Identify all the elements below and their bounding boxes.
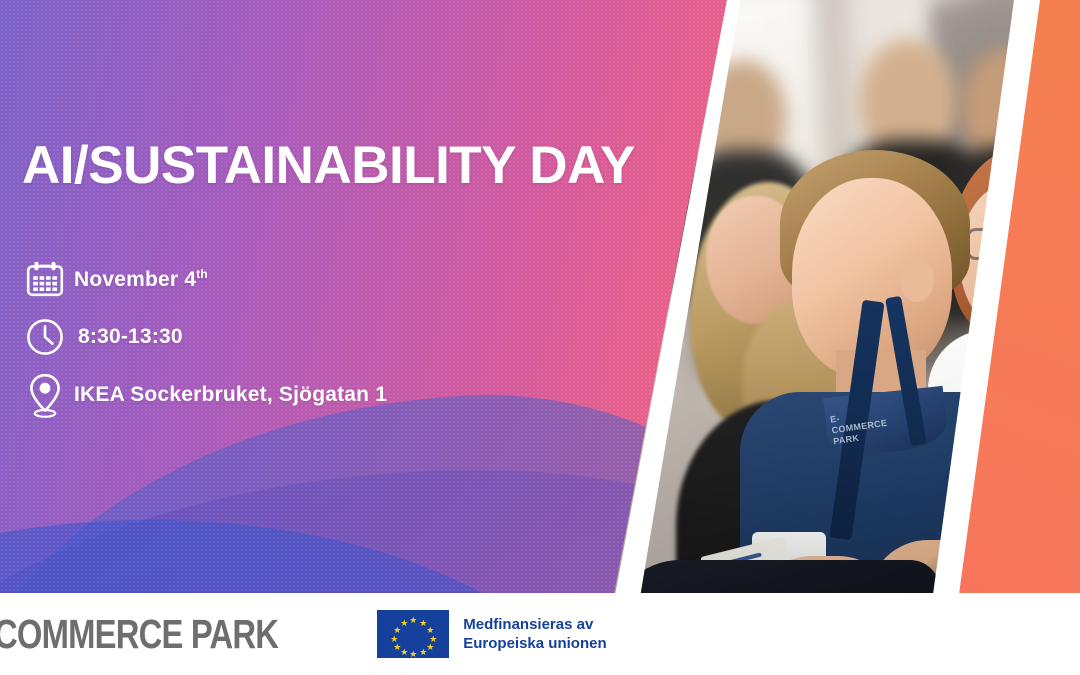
footer-bar: COMMERCE PARK ★ ★ ★ ★ ★ ★ ★ ★ ★ ★ ★ ★ xyxy=(0,593,1080,675)
eu-funding-text: Medfinansieras av Europeiska unionen xyxy=(463,615,606,653)
detail-text-date: November 4th xyxy=(74,267,208,292)
detail-text-time: 8:30-13:30 xyxy=(74,325,183,349)
detail-text-venue: IKEA Sockerbruket, Sjögatan 1 xyxy=(74,383,387,407)
calendar-icon xyxy=(16,255,74,303)
eu-funding-logo: ★ ★ ★ ★ ★ ★ ★ ★ ★ ★ ★ ★ Medfinansieras a… xyxy=(377,610,606,658)
detail-row-time: 8:30-13:30 xyxy=(16,308,576,366)
eu-funding-line1: Medfinansieras av xyxy=(463,616,593,633)
footer-logos: COMMERCE PARK ★ ★ ★ ★ ★ ★ ★ ★ ★ ★ ★ ★ xyxy=(0,593,607,675)
event-title: AI/SUSTAINABILITY DAY xyxy=(22,137,635,195)
detail-row-date: November 4th xyxy=(16,250,576,308)
eu-flag-icon: ★ ★ ★ ★ ★ ★ ★ ★ ★ ★ ★ ★ xyxy=(377,610,449,658)
event-banner: E-COMMERCEPARK AI/SUSTAINABILITY DAY xyxy=(0,0,1080,675)
clock-icon xyxy=(16,313,74,361)
eu-funding-line2: Europeiska unionen xyxy=(463,635,606,652)
location-pin-icon xyxy=(16,371,74,419)
event-details: November 4th 8:30-13:30 IKEA Sockerbruke… xyxy=(16,250,576,424)
commerce-park-logo: COMMERCE PARK xyxy=(0,614,278,655)
detail-row-venue: IKEA Sockerbruket, Sjögatan 1 xyxy=(16,366,576,424)
